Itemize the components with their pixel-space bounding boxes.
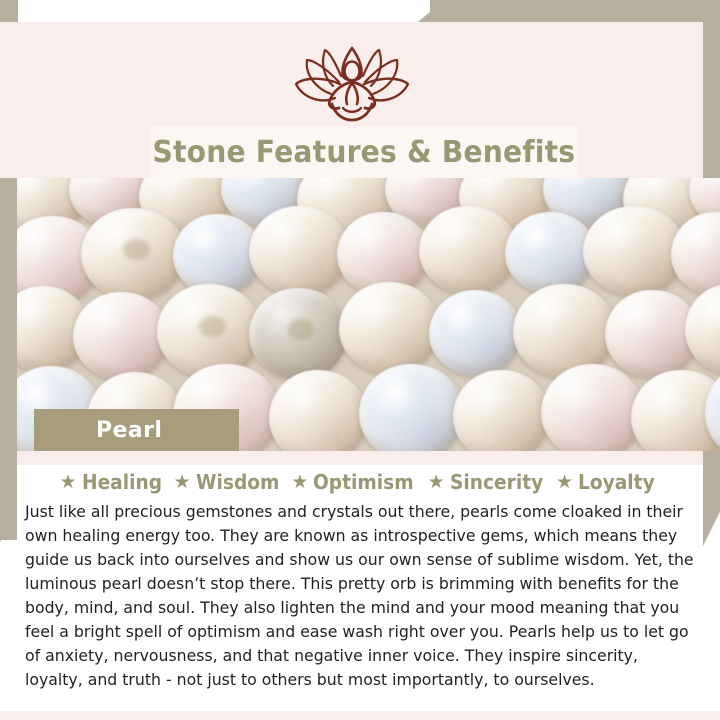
star-icon: ★ [556, 473, 573, 492]
benefit-item-healing: ★ Healing [60, 470, 168, 494]
benefit-label: Sincerity [450, 470, 543, 494]
star-icon: ★ [291, 473, 308, 492]
right-edge-accent-foot [703, 470, 720, 546]
benefit-item-sincerity: ★ Sincerity [428, 470, 550, 494]
stone-name-banner: Pearl [34, 409, 239, 451]
benefits-row: ★ Healing ★ Wisdom ★ Optimism ★ Sincerit… [17, 465, 703, 494]
content-panel: ★ Healing ★ Wisdom ★ Optimism ★ Sincerit… [17, 465, 703, 720]
benefit-item-optimism: ★ Optimism [291, 470, 421, 494]
benefit-item-loyalty: ★ Loyalty [556, 470, 661, 494]
lotus-meditation-icon [277, 42, 427, 128]
top-right-accent-band [430, 0, 720, 22]
header-notch [418, 22, 444, 44]
benefit-item-wisdom: ★ Wisdom [174, 470, 286, 494]
title-plaque: Stone Features & Benefits [150, 126, 578, 178]
photo-underline-band [17, 451, 703, 465]
page-title: Stone Features & Benefits [153, 135, 576, 170]
star-icon: ★ [428, 473, 445, 492]
footer-accent-band [0, 711, 720, 720]
stone-photo: Pearl [17, 178, 720, 451]
benefit-label: Healing [82, 470, 162, 494]
benefit-label: Optimism [313, 470, 414, 494]
stone-name: Pearl [96, 418, 162, 443]
benefit-label: Loyalty [578, 470, 655, 494]
infographic-card: BUDDHA STONES Stone Features & Benefits [0, 0, 720, 720]
star-icon: ★ [174, 473, 191, 492]
description-paragraph: Just like all precious gemstones and cry… [25, 500, 701, 692]
star-icon: ★ [60, 473, 77, 492]
benefit-label: Wisdom [196, 470, 279, 494]
